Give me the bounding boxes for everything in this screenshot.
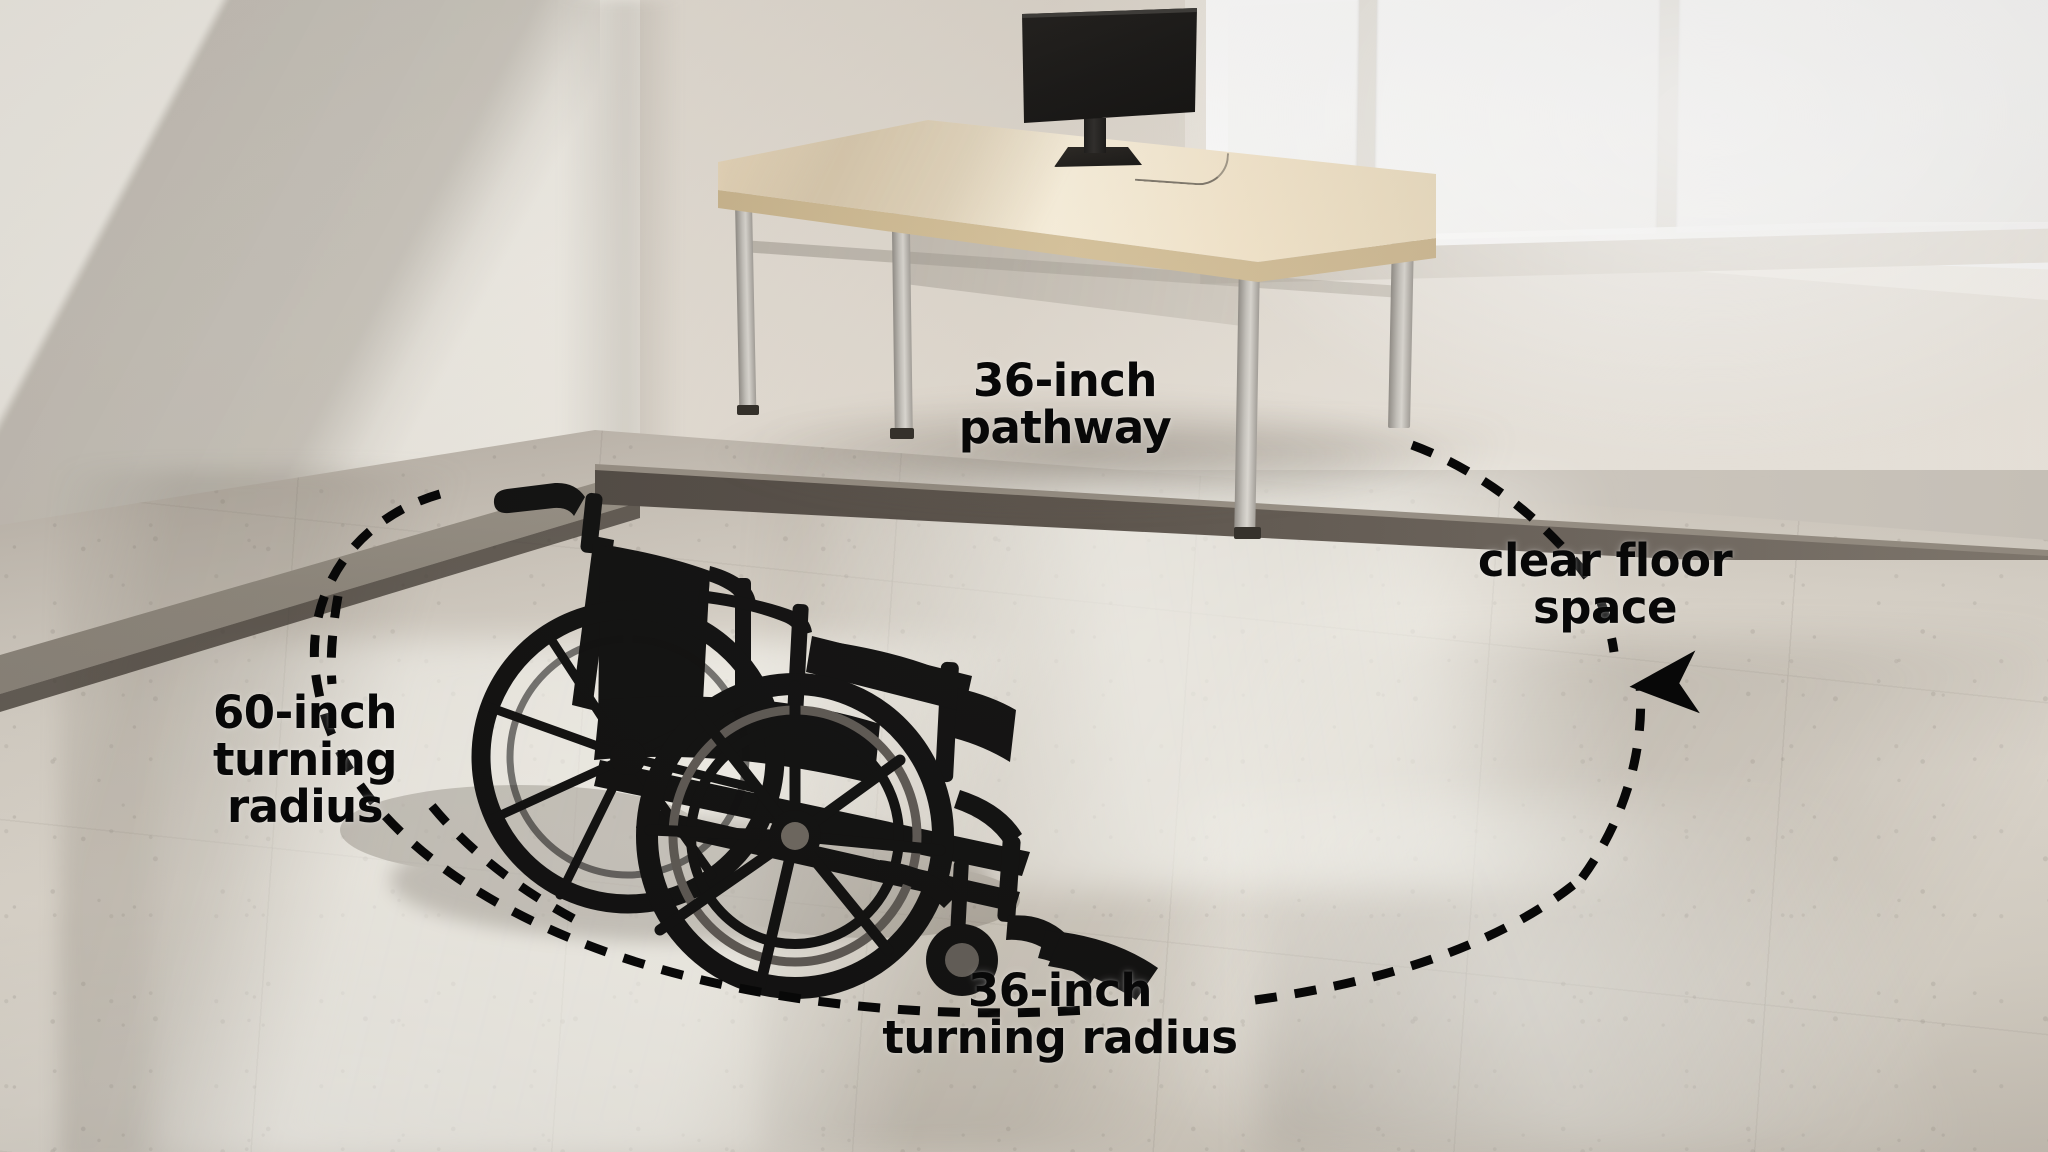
label-clear-floor-space: clear floor space: [1455, 538, 1755, 632]
label-60-inch-turning-radius: 60-inch turning radius: [165, 690, 445, 830]
turning-radius-60-right-dash: [432, 806, 576, 920]
clear-floor-space-arc: [1582, 686, 1641, 878]
label-36-inch-pathway: 36-inch pathway: [930, 358, 1200, 452]
turning-radius-60-top-dash: [331, 596, 338, 684]
accessibility-clearance-diagram: 36-inch pathway clear floor space 60-inc…: [0, 0, 2048, 1152]
label-36-inch-turning-radius: 36-inch turning radius: [860, 968, 1260, 1062]
turning-radius-36-arc: [1255, 878, 1582, 1000]
